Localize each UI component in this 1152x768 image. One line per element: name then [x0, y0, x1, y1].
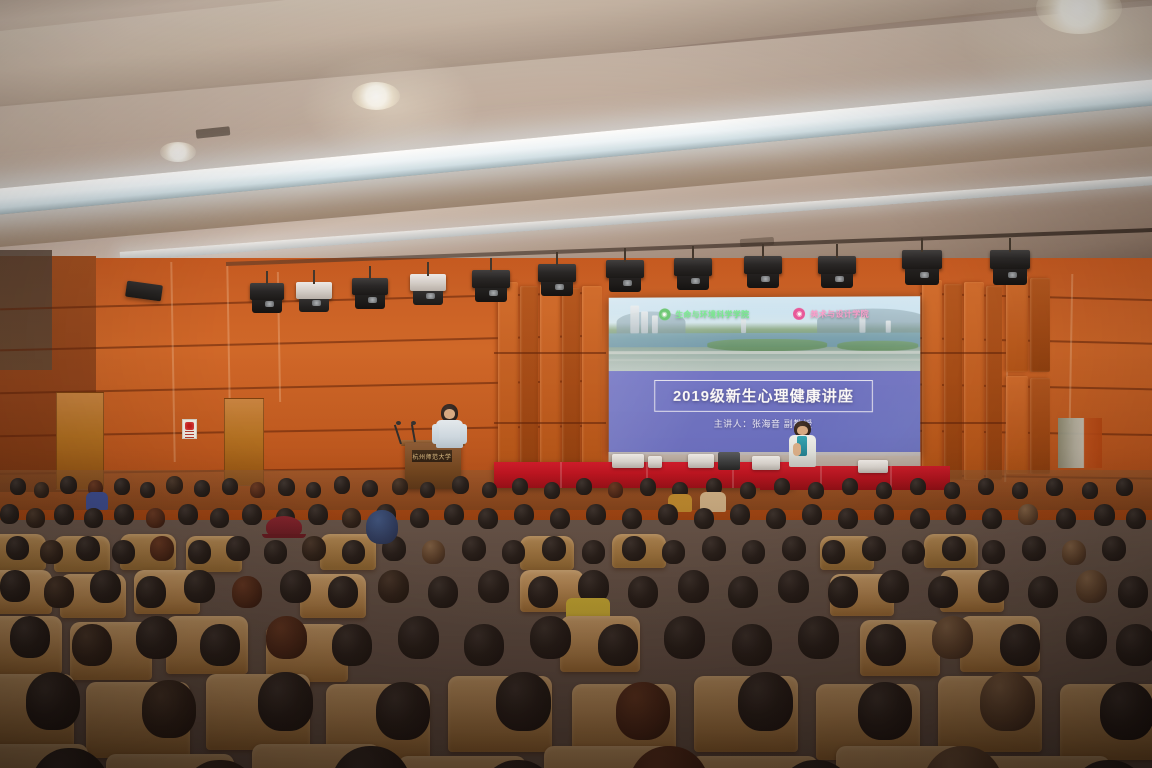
emergency-notice-sign — [182, 419, 197, 439]
life-science-logo-icon: ◉ — [658, 308, 670, 320]
park-shape — [707, 339, 827, 351]
podium-presenter — [432, 404, 466, 450]
audience-depth-shading — [0, 448, 1152, 768]
ceiling-downlight-icon — [352, 82, 400, 110]
department-name-label: 美术与设计学院 — [810, 308, 869, 319]
screen-title: 2019级新生心理健康讲座 — [673, 385, 854, 406]
screen-campus-photo: ◉ 生命与环境科学学院 ◉ 美术与设计学院 — [609, 296, 921, 371]
department-logo-item: ◉ 生命与环境科学学院 — [658, 308, 749, 320]
sign-emblem-icon — [185, 422, 194, 430]
audience-seating-area — [0, 448, 1152, 768]
wall-slat — [1006, 276, 1028, 372]
screen-title-box: 2019级新生心理健康讲座 — [654, 380, 873, 412]
stage-floodlight-icon — [990, 250, 1030, 282]
projection-screen: ◉ 生命与环境科学学院 ◉ 美术与设计学院 2019级新生心理健康讲座 主讲人：… — [609, 296, 921, 456]
department-logos: ◉ 生命与环境科学学院 ◉ 美术与设计学院 — [609, 305, 921, 322]
department-name-label: 生命与环境科学学院 — [675, 309, 749, 320]
stage-floodlight-icon — [410, 274, 446, 303]
stage-floodlight-icon — [296, 282, 332, 310]
presenter-arm — [432, 424, 439, 444]
stage-floodlight-icon — [352, 278, 388, 307]
wall-seam — [918, 422, 1008, 424]
wall-seam — [494, 352, 606, 354]
stage-floodlight-icon — [538, 264, 576, 294]
microphone-head-icon — [411, 421, 416, 425]
speaker-face — [797, 426, 808, 435]
stage-floodlight-icon — [250, 283, 284, 311]
stage-floodlight-icon — [902, 250, 942, 282]
wall-seam — [918, 352, 1008, 354]
art-design-logo-icon: ◉ — [793, 308, 805, 320]
road-shape — [609, 351, 921, 354]
wall-slat — [1030, 278, 1050, 372]
presenter-arm — [460, 424, 467, 444]
ceiling-downlight-icon — [160, 142, 196, 162]
auditorium-photo: ◉ 生命与环境科学学院 ◉ 美术与设计学院 2019级新生心理健康讲座 主讲人：… — [0, 0, 1152, 768]
department-logo-item: ◉ 美术与设计学院 — [793, 308, 869, 320]
sign-text-lines — [185, 431, 194, 432]
stage-floodlight-icon — [472, 270, 510, 300]
wall-seam — [494, 422, 606, 424]
presenter-body — [436, 420, 463, 448]
microphone-head-icon — [396, 421, 401, 425]
stage-floodlight-icon — [744, 256, 782, 286]
stage-floodlight-icon — [674, 258, 712, 288]
presenter-face — [444, 409, 455, 419]
stage-floodlight-icon — [606, 260, 644, 290]
park-shape — [837, 341, 918, 351]
stage-floodlight-icon — [818, 256, 856, 286]
road-shape — [609, 359, 921, 361]
building-shape — [886, 321, 891, 333]
